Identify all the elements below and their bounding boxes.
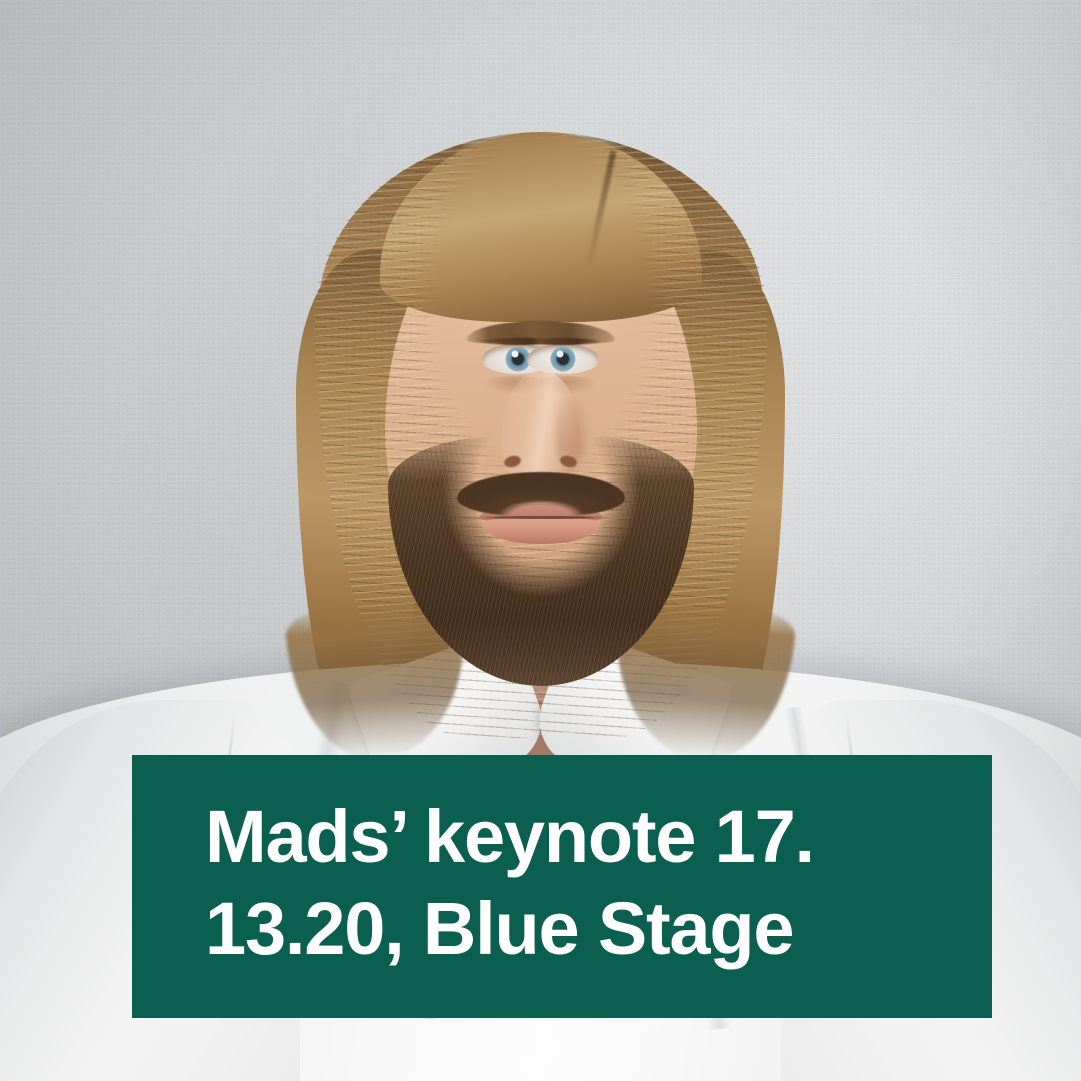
eyelash-right <box>526 338 600 345</box>
eye-right <box>527 344 599 374</box>
caption-text: Mads’ keynote 17. 13.20, Blue Stage <box>205 791 948 975</box>
caption-banner: Mads’ keynote 17. 13.20, Blue Stage <box>132 755 992 1018</box>
speaker-card: Mads’ keynote 17. 13.20, Blue Stage <box>0 0 1081 1081</box>
iris-right <box>551 347 576 372</box>
